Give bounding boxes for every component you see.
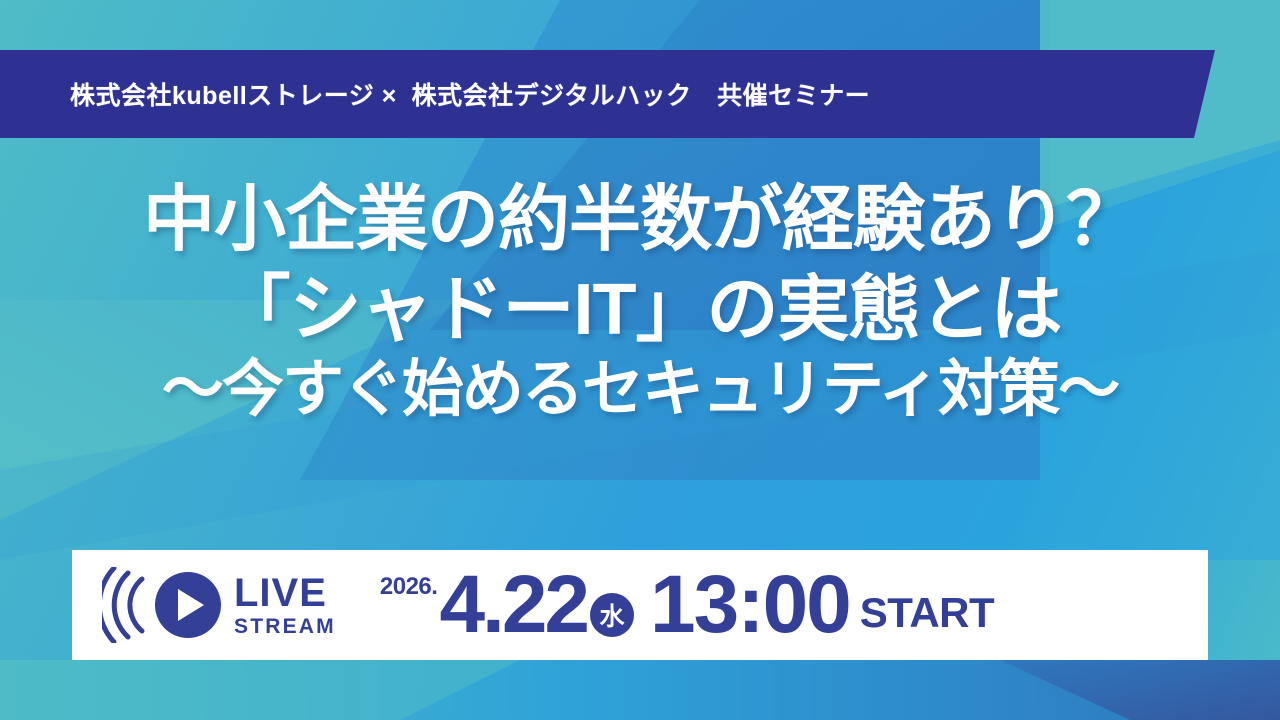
event-info-bar: LIVE STREAM 2026. 4.22 水 13:00 START [72, 550, 1208, 660]
weekday-badge: 水 [590, 593, 634, 637]
start-label: START [860, 589, 994, 637]
date-label: 4.22 [439, 569, 587, 641]
stream-label: STREAM [234, 616, 336, 637]
header-title: 株式会社kubellストレージ × 株式会社デジタルハック 共催セミナー [70, 50, 870, 138]
live-label: LIVE [234, 573, 336, 613]
year-label: 2026. [380, 573, 438, 601]
time-label: 13:00 [650, 569, 850, 641]
title-line-2: 「シャドーIT」の実態とは [0, 272, 1280, 348]
live-stream-play-icon [102, 567, 224, 643]
title-line-3: 〜今すぐ始めるセキュリティ対策〜 [0, 357, 1280, 423]
header-band: 株式会社kubellストレージ × 株式会社デジタルハック 共催セミナー [0, 50, 1215, 138]
title-block: 中小企業の約半数が経験あり？ 「シャドーIT」の実態とは 〜今すぐ始めるセキュリ… [0, 182, 1280, 422]
seminar-banner: 株式会社kubellストレージ × 株式会社デジタルハック 共催セミナー 中小企… [0, 0, 1280, 720]
title-line-1: 中小企業の約半数が経験あり？ [0, 182, 1280, 258]
schedule-block: 2026. 4.22 水 13:00 START [380, 569, 994, 641]
live-stream-wordmark: LIVE STREAM [234, 573, 336, 637]
live-stream-logo: LIVE STREAM [102, 567, 336, 643]
